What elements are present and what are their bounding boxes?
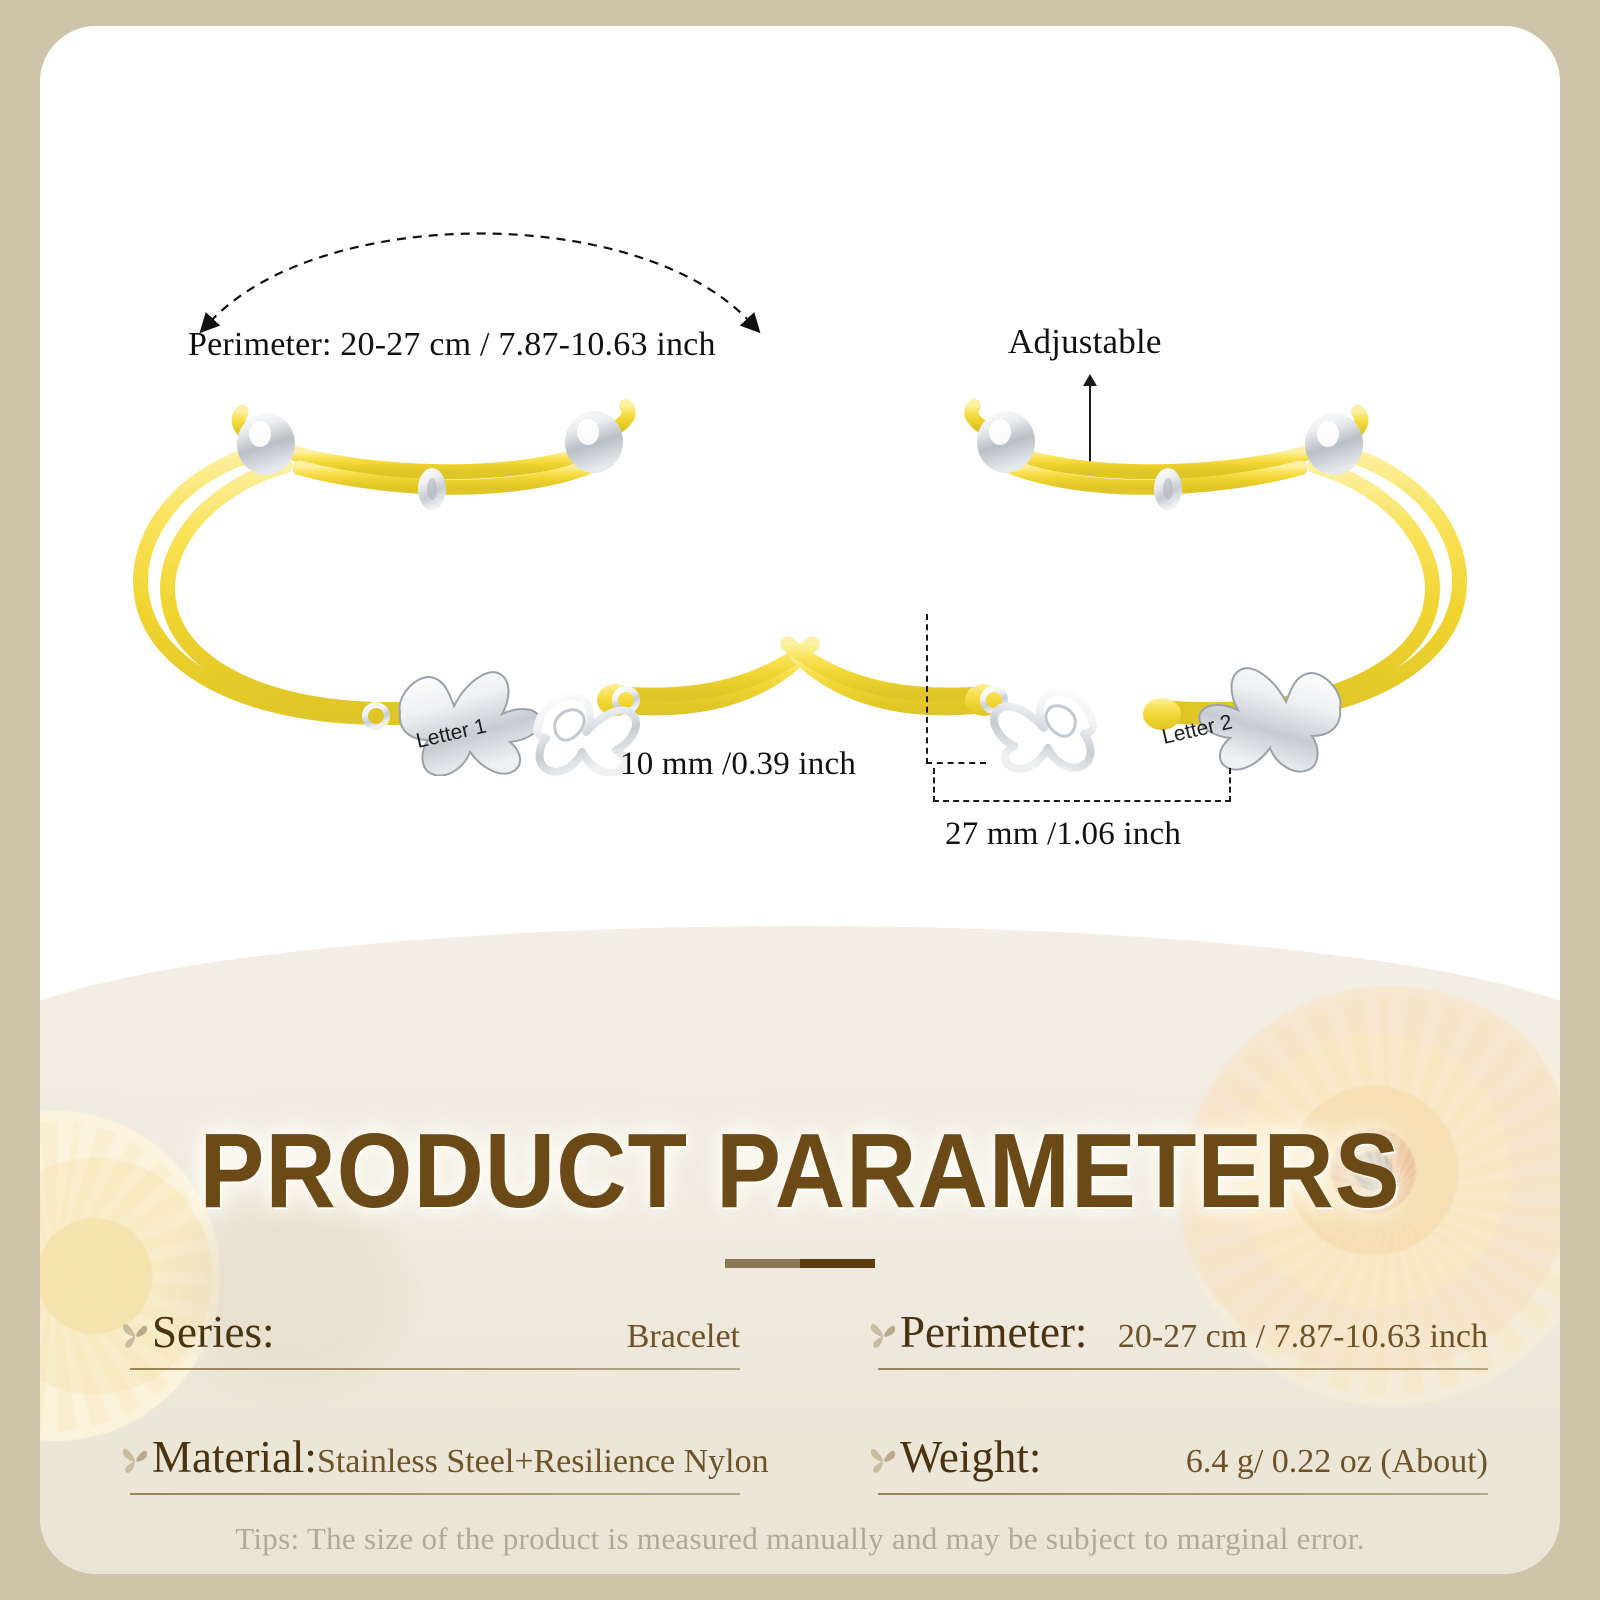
butterfly-icon <box>868 1317 900 1351</box>
param-row-weight: Weight: 6.4 g/ 0.22 oz (About) <box>868 1431 1488 1483</box>
param-value-weight: 6.4 g/ 0.22 oz (About) <box>1186 1443 1488 1481</box>
bracelet-right: Letter 2 <box>740 356 1540 776</box>
param-key-weight: Weight: <box>900 1431 1041 1483</box>
param-value-material: Stainless Steel+Resilience Nylon <box>317 1443 769 1481</box>
title-divider <box>725 1259 875 1268</box>
row-rule <box>878 1493 1488 1495</box>
param-row-perimeter: Perimeter: 20-27 cm / 7.87-10.63 inch <box>868 1306 1488 1358</box>
product-parameters-panel: PRODUCT PARAMETERS Series: Bracelet Peri… <box>40 926 1560 1574</box>
row-rule <box>878 1368 1488 1370</box>
param-row-series: Series: Bracelet <box>120 1306 740 1358</box>
charm-width-dimension-guide <box>933 768 1231 802</box>
product-photo-area: Perimeter: 20-27 cm / 7.87-10.63 inch Ad… <box>40 26 1560 1036</box>
page-frame: Perimeter: 20-27 cm / 7.87-10.63 inch Ad… <box>0 0 1600 1600</box>
perimeter-arc-arrow <box>170 186 790 346</box>
product-card: Perimeter: 20-27 cm / 7.87-10.63 inch Ad… <box>40 26 1560 1574</box>
butterfly-icon <box>120 1317 152 1351</box>
butterfly-outline-right <box>994 692 1093 769</box>
charm-height-label: 10 mm /0.39 inch <box>620 746 856 783</box>
param-value-series: Bracelet <box>627 1318 740 1356</box>
charm-width-label: 27 mm /1.06 inch <box>945 816 1181 853</box>
charm-left: Letter 1 <box>365 672 637 775</box>
row-rule <box>130 1368 740 1370</box>
param-row-material: Material: Stainless Steel+Resilience Nyl… <box>120 1431 740 1483</box>
param-key-series: Series: <box>152 1306 274 1358</box>
charm-height-dimension-guide <box>926 614 986 764</box>
param-value-perimeter: 20-27 cm / 7.87-10.63 inch <box>1118 1318 1488 1356</box>
butterfly-icon <box>120 1442 152 1476</box>
param-key-material: Material: <box>152 1431 317 1483</box>
butterfly-icon <box>868 1442 900 1476</box>
page-title: PRODUCT PARAMETERS <box>101 1111 1499 1232</box>
param-key-perimeter: Perimeter: <box>900 1306 1087 1358</box>
row-rule <box>130 1493 740 1495</box>
tips-note: Tips: The size of the product is measure… <box>40 1521 1560 1557</box>
